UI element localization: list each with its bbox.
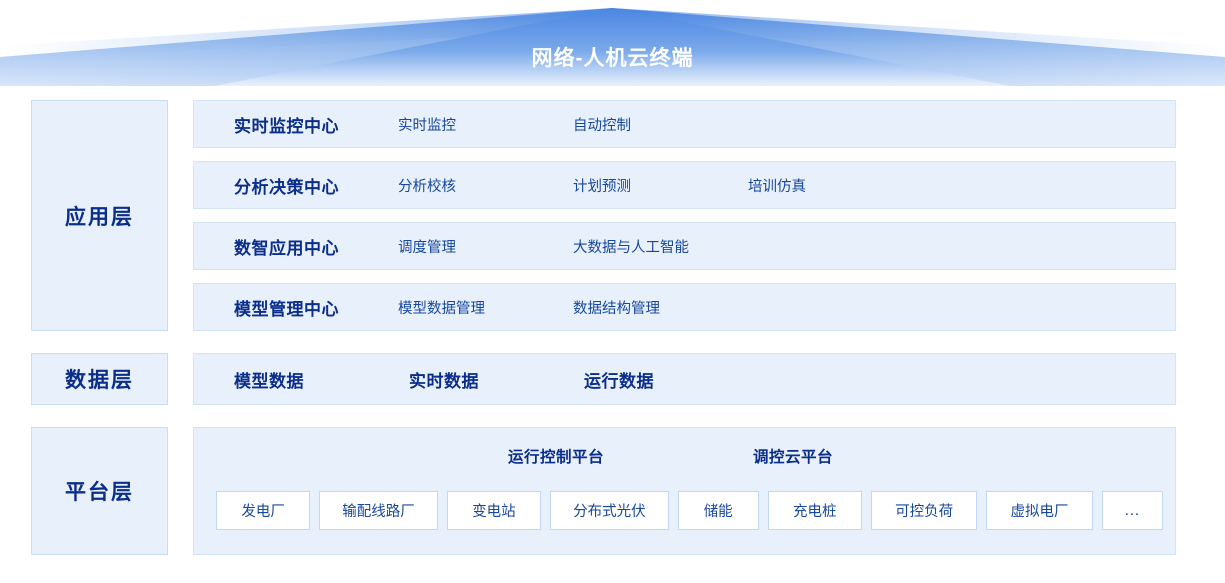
table-row[interactable]: 数智应用中心 调度管理 大数据与人工智能 [193,222,1176,270]
platform-chip[interactable]: 可控负荷 [871,491,977,530]
application-rows: 实时监控中心 实时监控 自动控制 分析决策中心 分析校核 计划预测 培训仿真 数… [193,100,1176,331]
app-row-items: 模型数据管理 数据结构管理 [398,297,748,318]
app-item[interactable]: 大数据与人工智能 [573,236,748,257]
platform-chip[interactable]: 充电桩 [768,491,862,530]
app-item[interactable]: 计划预测 [573,175,748,196]
data-item[interactable]: 运行数据 [584,367,759,392]
table-row[interactable]: 实时监控中心 实时监控 自动控制 [193,100,1176,148]
table-row[interactable]: 模型管理中心 模型数据管理 数据结构管理 [193,283,1176,331]
platform-chip[interactable]: 发电厂 [216,491,310,530]
app-item[interactable]: 模型数据管理 [398,297,573,318]
platform-heading: 运行控制平台 [508,445,604,467]
layer-label-data: 数据层 [31,353,168,405]
app-item[interactable]: 调度管理 [398,236,573,257]
platform-chip[interactable]: 分布式光伏 [550,491,669,530]
platform-headings: 运行控制平台 调控云平台 [194,445,1175,471]
app-row-title: 分析决策中心 [194,173,398,198]
platform-chip[interactable]: 虚拟电厂 [986,491,1092,530]
roof-shape [0,0,1225,92]
table-row[interactable]: 分析决策中心 分析校核 计划预测 培训仿真 [193,161,1176,209]
app-row-title: 数智应用中心 [194,234,398,259]
application-layer: 应用层 实时监控中心 实时监控 自动控制 分析决策中心 分析校核 计划预测 培训… [31,100,1176,331]
app-row-title: 模型管理中心 [194,295,398,320]
app-row-items: 实时监控 自动控制 [398,114,748,135]
layer-label-application: 应用层 [31,100,168,331]
data-item[interactable]: 模型数据 [234,367,409,392]
app-row-items: 调度管理 大数据与人工智能 [398,236,748,257]
app-item[interactable]: 数据结构管理 [573,297,748,318]
platform-chip-list: 发电厂 输配线路厂 变电站 分布式光伏 储能 充电桩 可控负荷 虚拟电厂 … [216,491,1163,530]
platform-chip-more[interactable]: … [1102,491,1163,530]
app-row-items: 分析校核 计划预测 培训仿真 [398,175,923,196]
app-item[interactable]: 实时监控 [398,114,573,135]
app-item[interactable]: 分析校核 [398,175,573,196]
app-item[interactable]: 培训仿真 [748,175,923,196]
platform-chip[interactable]: 输配线路厂 [319,491,438,530]
data-layer-bar: 模型数据 实时数据 运行数据 [193,353,1176,405]
data-item[interactable]: 实时数据 [409,367,584,392]
platform-chip[interactable]: 变电站 [447,491,541,530]
platform-heading: 调控云平台 [753,445,833,467]
platform-panel: 运行控制平台 调控云平台 发电厂 输配线路厂 变电站 分布式光伏 储能 充电桩 … [193,427,1176,555]
app-row-title: 实时监控中心 [194,112,398,137]
app-item[interactable]: 自动控制 [573,114,748,135]
header-roof: 网络-人机云终端 [0,0,1225,92]
data-layer: 数据层 模型数据 实时数据 运行数据 [31,353,1176,405]
platform-chip[interactable]: 储能 [678,491,759,530]
layer-label-platform: 平台层 [31,427,168,555]
platform-layer: 平台层 运行控制平台 调控云平台 发电厂 输配线路厂 变电站 分布式光伏 储能 … [31,427,1176,555]
